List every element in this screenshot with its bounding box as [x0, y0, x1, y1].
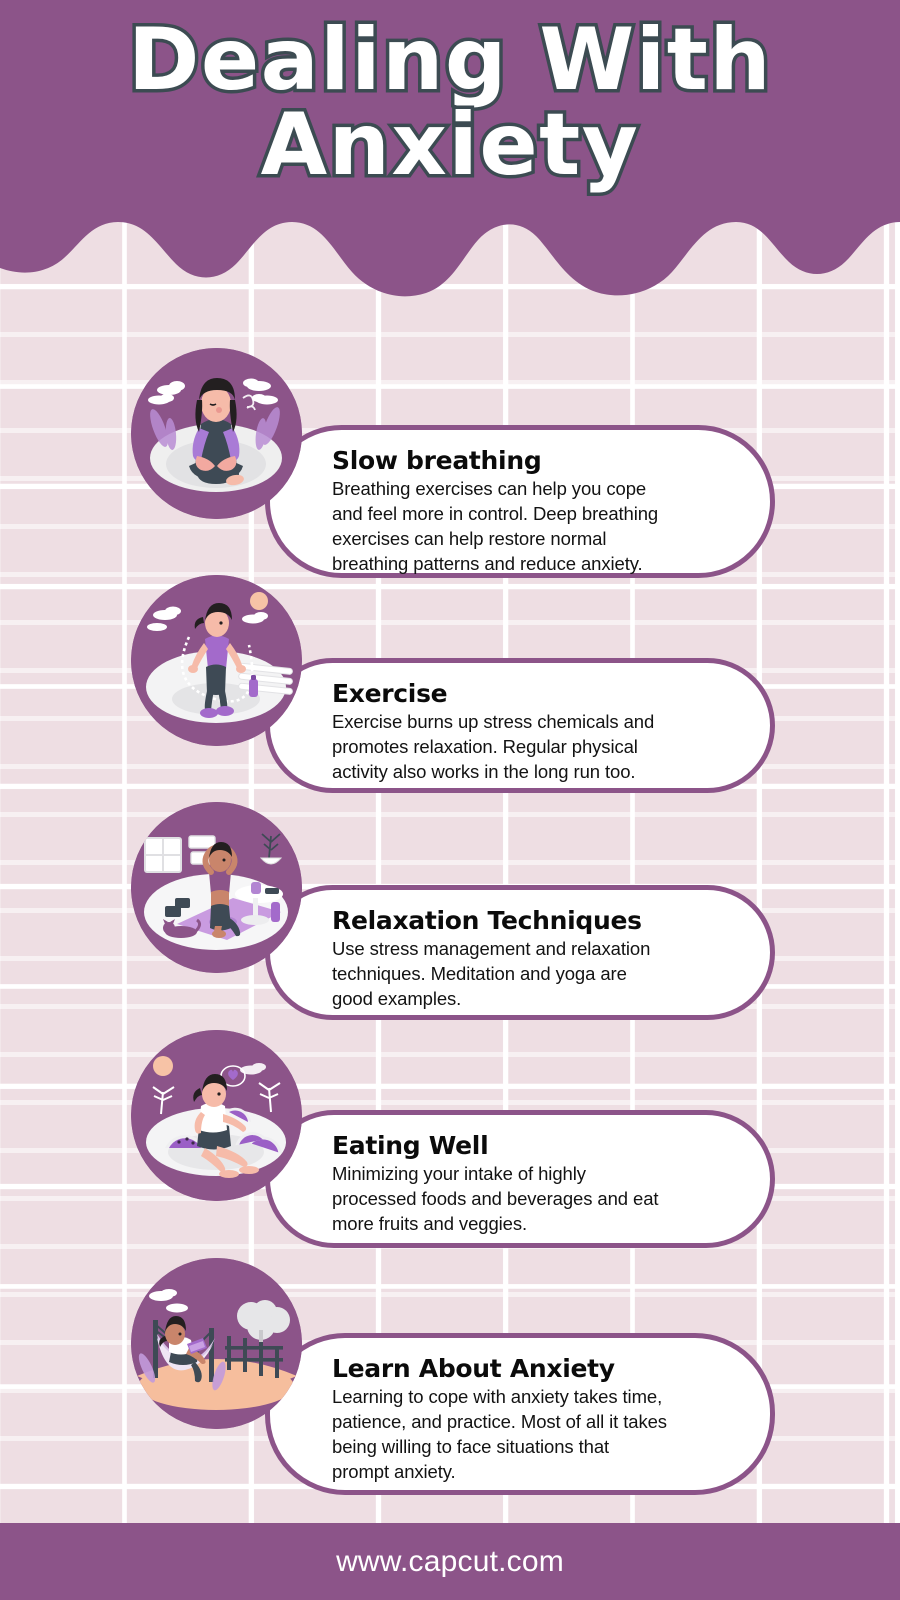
jump-rope-illustration-icon	[131, 575, 302, 746]
tip-body: Learning to cope with anxiety takes time…	[332, 1384, 740, 1484]
tip-title: Relaxation Techniques	[332, 906, 740, 935]
tip-body: Minimizing your intake of highly process…	[332, 1161, 740, 1236]
hammock-illustration-svg	[131, 1258, 302, 1429]
yoga-illustration-svg	[131, 802, 302, 973]
watermelon-illustration-svg	[131, 1030, 302, 1201]
tip-card-eating-well[interactable]: Eating Well Minimizing your intake of hi…	[265, 1110, 775, 1248]
tip-title: Learn About Anxiety	[332, 1354, 740, 1383]
yoga-illustration-icon	[131, 802, 302, 973]
footer-url[interactable]: www.capcut.com	[336, 1545, 564, 1579]
tip-title: Exercise	[332, 679, 740, 708]
tip-body: Use stress management and relaxation tec…	[332, 936, 740, 1011]
tip-card-learn-about-anxiety[interactable]: Learn About Anxiety Learning to cope wit…	[265, 1333, 775, 1495]
tip-card-exercise[interactable]: Exercise Exercise burns up stress chemic…	[265, 658, 775, 793]
watermelon-eating-illustration-icon	[131, 1030, 302, 1201]
meditation-illustration-icon	[131, 348, 302, 519]
tips-list: Slow breathing Breathing exercises can h…	[0, 0, 900, 1600]
tip-card-slow-breathing[interactable]: Slow breathing Breathing exercises can h…	[265, 425, 775, 578]
tip-title: Slow breathing	[332, 446, 740, 475]
tip-card-relaxation[interactable]: Relaxation Techniques Use stress managem…	[265, 885, 775, 1020]
meditation-illustration-svg	[131, 348, 302, 519]
tip-body: Exercise burns up stress chemicals and p…	[332, 709, 740, 784]
footer-bar: www.capcut.com	[0, 1523, 900, 1600]
jump-rope-illustration-svg	[131, 575, 302, 746]
tip-body: Breathing exercises can help you cope an…	[332, 476, 740, 576]
hammock-reading-illustration-icon	[131, 1258, 302, 1429]
tip-title: Eating Well	[332, 1131, 740, 1160]
